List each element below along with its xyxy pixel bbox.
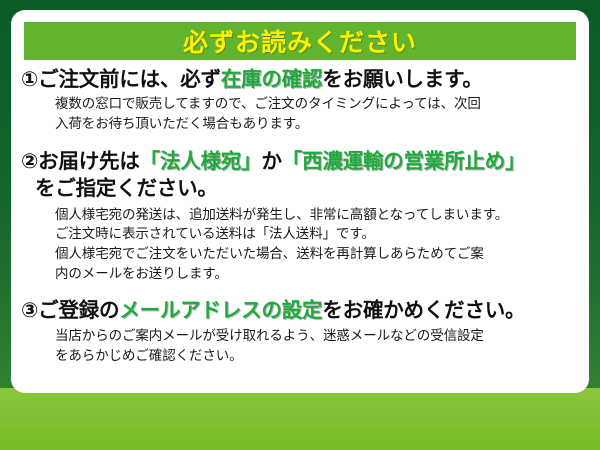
notice-item-2-body-line-1: 個人様宅宛の発送は、追加送料が発生し、非常に高額となってしまいます。 bbox=[55, 206, 579, 226]
notice-item-1-heading: ①ご注文前には、必ず在庫の確認をお願いします。 bbox=[21, 66, 579, 92]
notice-card: 必ずお読みください ①ご注文前には、必ず在庫の確認をお願いします。 複数の窓口で… bbox=[11, 10, 589, 393]
notice-item-2-heading-highlight-2: 「西濃運輸の営業所止め」 bbox=[282, 149, 526, 173]
notice-item-2-heading: ②お届け先は「法人様宛」か「西濃運輸の営業所止め」 bbox=[21, 148, 579, 174]
notice-item-3-heading-part-1: ③ご登録の bbox=[21, 298, 119, 322]
notice-item-2-body-line-4: 内のメールをお送りします。 bbox=[55, 265, 579, 285]
notice-item-1-heading-part-3: をお願いします。 bbox=[322, 67, 482, 91]
notice-item-2-heading-part-1: ②お届け先は bbox=[21, 149, 140, 173]
notice-item-2-heading-line-2: をご指定ください。 bbox=[21, 175, 579, 201]
notice-item-3-body-line-1: 当店からのご案内メールが受け取れるよう、迷惑メールなどの受信設定 bbox=[55, 327, 579, 347]
notice-item-3-heading: ③ご登録のメールアドレスの設定をお確かめください。 bbox=[21, 297, 579, 323]
notice-item-1-heading-highlight: 在庫の確認 bbox=[221, 67, 323, 91]
notice-item-1-body-line-2: 入荷をお待ち頂いただく場合もあります。 bbox=[55, 115, 579, 135]
title-banner: 必ずお読みください bbox=[24, 22, 576, 60]
notice-item-2-heading-highlight-1: 「法人様宛」 bbox=[140, 149, 262, 173]
notice-item-2-body-line-3: 個人様宅宛でご注文をいただいた場合、送料を再計算しあらためてご案 bbox=[55, 245, 579, 265]
notice-item-1-body: 複数の窓口で販売してますので、ご注文のタイミングによっては、次回 入荷をお待ち頂… bbox=[21, 95, 579, 134]
notice-item-1-body-line-1: 複数の窓口で販売してますので、ご注文のタイミングによっては、次回 bbox=[55, 95, 579, 115]
notice-item-3-body-line-2: をあらかじめご確認ください。 bbox=[55, 347, 579, 367]
notice-item-1-heading-part-1: ①ご注文前には、必ず bbox=[21, 67, 221, 91]
notice-poster: 必ずお読みください ①ご注文前には、必ず在庫の確認をお願いします。 複数の窓口で… bbox=[0, 0, 600, 450]
footer-band bbox=[0, 388, 600, 450]
notice-item-1: ①ご注文前には、必ず在庫の確認をお願いします。 複数の窓口で販売してますので、ご… bbox=[21, 66, 579, 134]
notice-content: ①ご注文前には、必ず在庫の確認をお願いします。 複数の窓口で販売してますので、ご… bbox=[11, 66, 589, 369]
notice-item-2: ②お届け先は「法人様宛」か「西濃運輸の営業所止め」 をご指定ください。 個人様宅… bbox=[21, 148, 579, 284]
notice-item-3-body: 当店からのご案内メールが受け取れるよう、迷惑メールなどの受信設定 をあらかじめご… bbox=[21, 327, 579, 366]
notice-item-2-body: 個人様宅宛の発送は、追加送料が発生し、非常に高額となってしまいます。 ご注文時に… bbox=[21, 206, 579, 284]
notice-item-3-heading-part-3: をお確かめください。 bbox=[322, 298, 525, 322]
page-title: 必ずお読みください bbox=[183, 23, 417, 59]
notice-item-2-body-line-2: ご注文時に表示されている送料は「法人送料」です。 bbox=[55, 225, 579, 245]
notice-item-3: ③ご登録のメールアドレスの設定をお確かめください。 当店からのご案内メールが受け… bbox=[21, 297, 579, 366]
notice-item-2-heading-part-3: か bbox=[261, 149, 281, 173]
notice-item-3-heading-highlight: メールアドレスの設定 bbox=[119, 298, 322, 322]
